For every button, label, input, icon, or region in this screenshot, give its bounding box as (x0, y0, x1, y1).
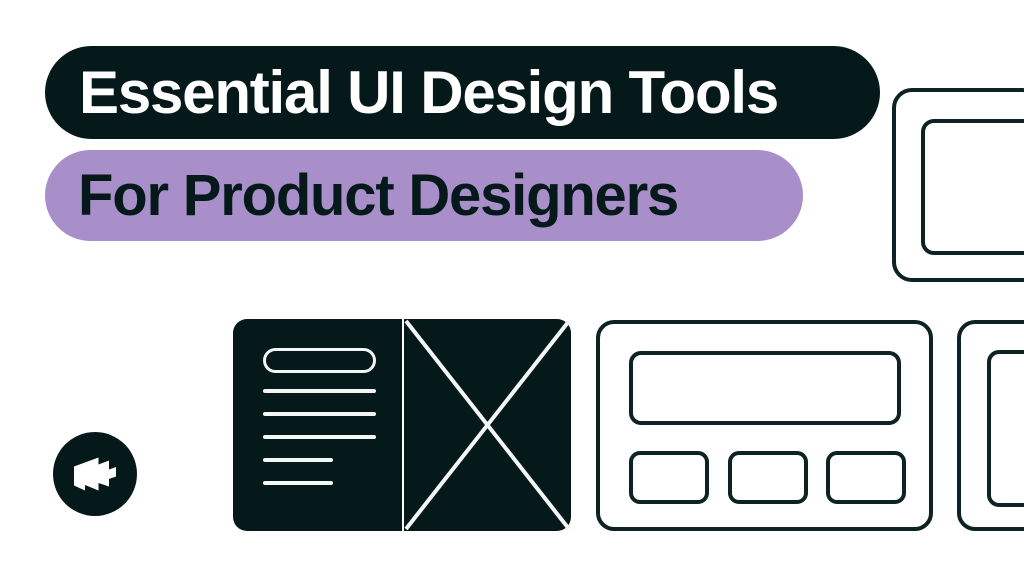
headline-pill-primary: Essential UI Design Tools (45, 46, 880, 139)
wireframe-text-line (263, 412, 376, 416)
wireframe-nested-frame-right-inner (987, 350, 1024, 507)
wireframe-input-field (263, 348, 376, 373)
brand-mark-lightning-icon (71, 452, 119, 496)
wireframe-tile (826, 451, 906, 504)
wireframe-hero-block (629, 351, 901, 425)
decor-nested-frame-top-right (892, 88, 1024, 282)
headline-line-2: For Product Designers (78, 167, 678, 225)
wireframe-tile (728, 451, 808, 504)
wireframe-text-panel (233, 319, 402, 531)
slide-canvas: Essential UI Design Tools For Product De… (0, 0, 1024, 576)
wireframe-text-line (263, 481, 333, 485)
brand-logo-badge (53, 432, 137, 516)
wireframe-tile (629, 451, 709, 504)
headline-line-1: Essential UI Design Tools (79, 63, 778, 123)
headline-pill-secondary: For Product Designers (45, 150, 803, 241)
wireframe-text-line (263, 435, 376, 439)
wireframe-layout-panel (596, 320, 933, 531)
wireframe-text-line (263, 389, 376, 393)
wireframe-nested-frame-right (957, 320, 1024, 531)
wireframe-image-placeholder (404, 319, 571, 531)
decor-nested-frame-top-right-inner (921, 119, 1024, 255)
wireframe-text-line (263, 458, 333, 462)
